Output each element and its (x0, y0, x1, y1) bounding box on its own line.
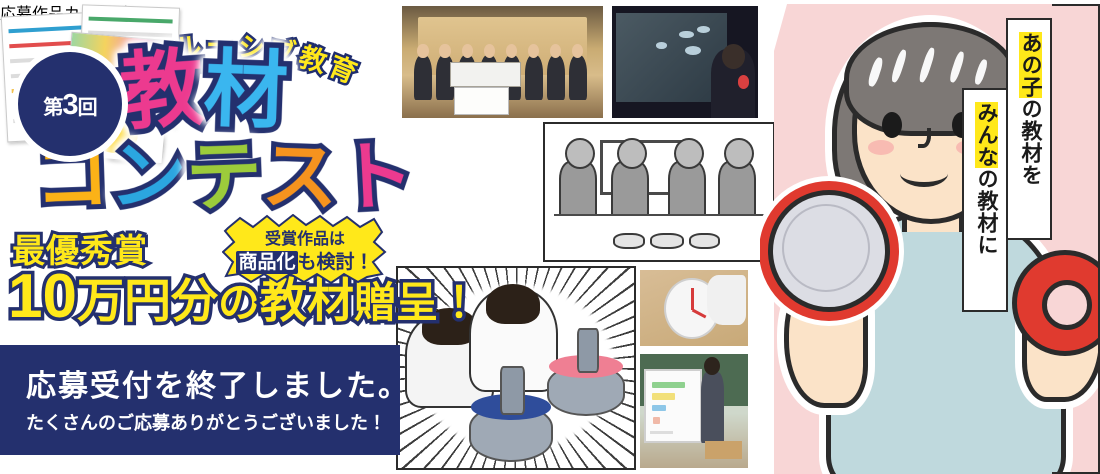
classroom-whiteboard-photo: 教室のホワイトボード教材 (638, 352, 750, 470)
speech-box-ano-ko: あの子の教材を (1006, 18, 1052, 240)
speech-highlight-1: あの子 (1019, 32, 1042, 98)
burst-line-2: 商品化も検討！ (222, 247, 388, 274)
person-head (506, 44, 517, 58)
ceremony-person (525, 55, 543, 100)
hair-highlight (890, 49, 908, 84)
participant-head (617, 138, 647, 170)
title-char-n: ン (108, 138, 188, 218)
edition-number: 3 (62, 89, 77, 121)
prize-particle: の (218, 282, 260, 324)
blue-foam-prop (469, 404, 553, 462)
title-char-kyo: 教 (117, 45, 207, 135)
number-card (652, 393, 676, 399)
speaker-head (722, 44, 745, 69)
teaching-aid-puck (689, 233, 720, 249)
hair-highlight (918, 47, 937, 84)
edition-suffix: 回 (78, 97, 97, 119)
edition-prefix: 第 (43, 97, 62, 119)
clock-hand-hour (692, 308, 707, 318)
pink-foam-prop (547, 364, 624, 416)
title-char-zai: 材 (203, 47, 290, 134)
promotional-banner: インクルーシブ教育 第3回 教材 コンテスト 最優秀賞 10万円分の教材贈呈！ … (0, 0, 1100, 474)
white-disc-inner-ring (782, 204, 870, 292)
ceremony-poster (454, 87, 508, 115)
classroom-desk (705, 441, 742, 459)
burst-rest: も検討！ (298, 252, 374, 273)
whiteboard-leg (650, 431, 674, 434)
person-head (550, 44, 561, 58)
speech-rest-2: の教材に (975, 168, 998, 256)
commercialization-burst-badge: 受賞作品は 商品化も検討！ (222, 214, 388, 284)
mobile-whiteboard (644, 369, 702, 444)
right-panel-frame (1052, 4, 1100, 474)
screen-dot (697, 26, 710, 33)
character-eye-left (882, 112, 902, 138)
prop-peg (500, 366, 525, 415)
child-hair (486, 284, 540, 324)
person-head (439, 44, 450, 58)
prize-amount-unit: 万円分 (77, 277, 218, 324)
edition-badge: 第3回 (18, 52, 122, 156)
participant-head (724, 138, 754, 170)
character-mouth (900, 160, 948, 187)
teacher-head (704, 357, 720, 375)
person-head (417, 44, 428, 58)
number-card (653, 417, 661, 423)
speech-rest-1: の教材を (1019, 98, 1042, 186)
person-head (528, 44, 539, 58)
number-card (652, 405, 666, 411)
person-head (462, 44, 473, 58)
ceremony-person (414, 55, 432, 100)
prize-verb: 贈呈！ (354, 282, 480, 324)
clock-teaching-aid-photo: 時計の教材 (638, 268, 750, 348)
burst-line-1: 受賞作品は (222, 225, 388, 249)
teacher-figure (701, 372, 725, 443)
prize-amount-number: 10 (8, 266, 77, 328)
screen-dot (656, 42, 668, 49)
character-cheek-left (868, 140, 894, 155)
closing-announcement-banner: 応募受付を終了しました。 たくさんのご応募ありがとうございました！ (0, 345, 400, 455)
participant-head (565, 138, 595, 170)
title-char-to: ト (336, 138, 416, 218)
teaching-aid-puck (650, 233, 684, 249)
award-ceremony-photo: 教材コンテスト 2023年度 表彰式 (400, 4, 605, 120)
teaching-aid-puck (613, 233, 644, 249)
person-head (572, 44, 583, 58)
meeting-illustration: 審査会議イラスト (543, 122, 775, 262)
hair-highlight (973, 58, 989, 85)
person-head (484, 44, 495, 58)
edition-badge-label: 第3回 (43, 91, 96, 120)
clock-hand-minute (691, 288, 694, 310)
oversized-check-board (450, 62, 520, 86)
ceremony-person (547, 55, 565, 100)
speech-highlight-2: みんな (975, 102, 998, 168)
participant-head (674, 138, 704, 170)
prop-peg (577, 328, 599, 373)
speaker-rosette (738, 75, 750, 88)
title-char-su: ス (261, 139, 340, 218)
prize-item: 教材 (260, 277, 354, 324)
burst-highlight: 商品化 (236, 251, 297, 274)
closing-headline: 応募受付を終了しました。 (26, 361, 410, 405)
ceremony-person (569, 55, 587, 100)
presentation-screen-photo: プレゼンテーション発表 (610, 4, 760, 120)
hair-highlight (948, 51, 965, 84)
title-kyozai: 教材 (120, 48, 288, 132)
closing-subline: たくさんのご応募ありがとうございました！ (26, 409, 386, 435)
holding-hand (707, 275, 746, 325)
hair-highlight (867, 56, 885, 87)
speech-box-minna: みんなの教材に (962, 88, 1008, 312)
title-char-te: テ (185, 139, 264, 218)
number-card (652, 382, 685, 388)
